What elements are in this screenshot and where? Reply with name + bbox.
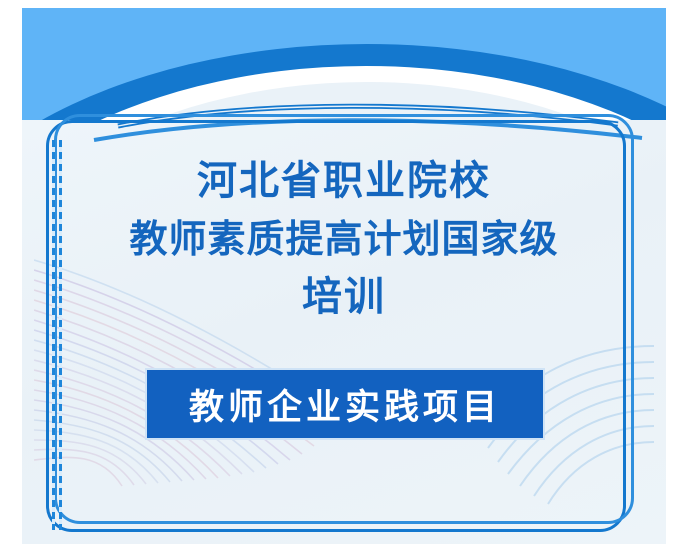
project-banner: 教师企业实践项目 [145, 368, 545, 440]
project-banner-label: 教师企业实践项目 [189, 379, 501, 430]
poster-canvas: 河北省职业院校 教师素质提高计划国家级 培训 教师企业实践项目 [0, 0, 688, 544]
left-dotted-rails [52, 140, 64, 530]
dotted-rail-b [59, 140, 62, 530]
title-line-3: 培训 [70, 268, 618, 326]
title-line-1: 河北省职业院校 [70, 152, 618, 210]
title-line-2: 教师素质提高计划国家级 [70, 210, 618, 268]
poster-title: 河北省职业院校 教师素质提高计划国家级 培训 [70, 152, 618, 326]
dotted-rail-a [52, 140, 55, 530]
